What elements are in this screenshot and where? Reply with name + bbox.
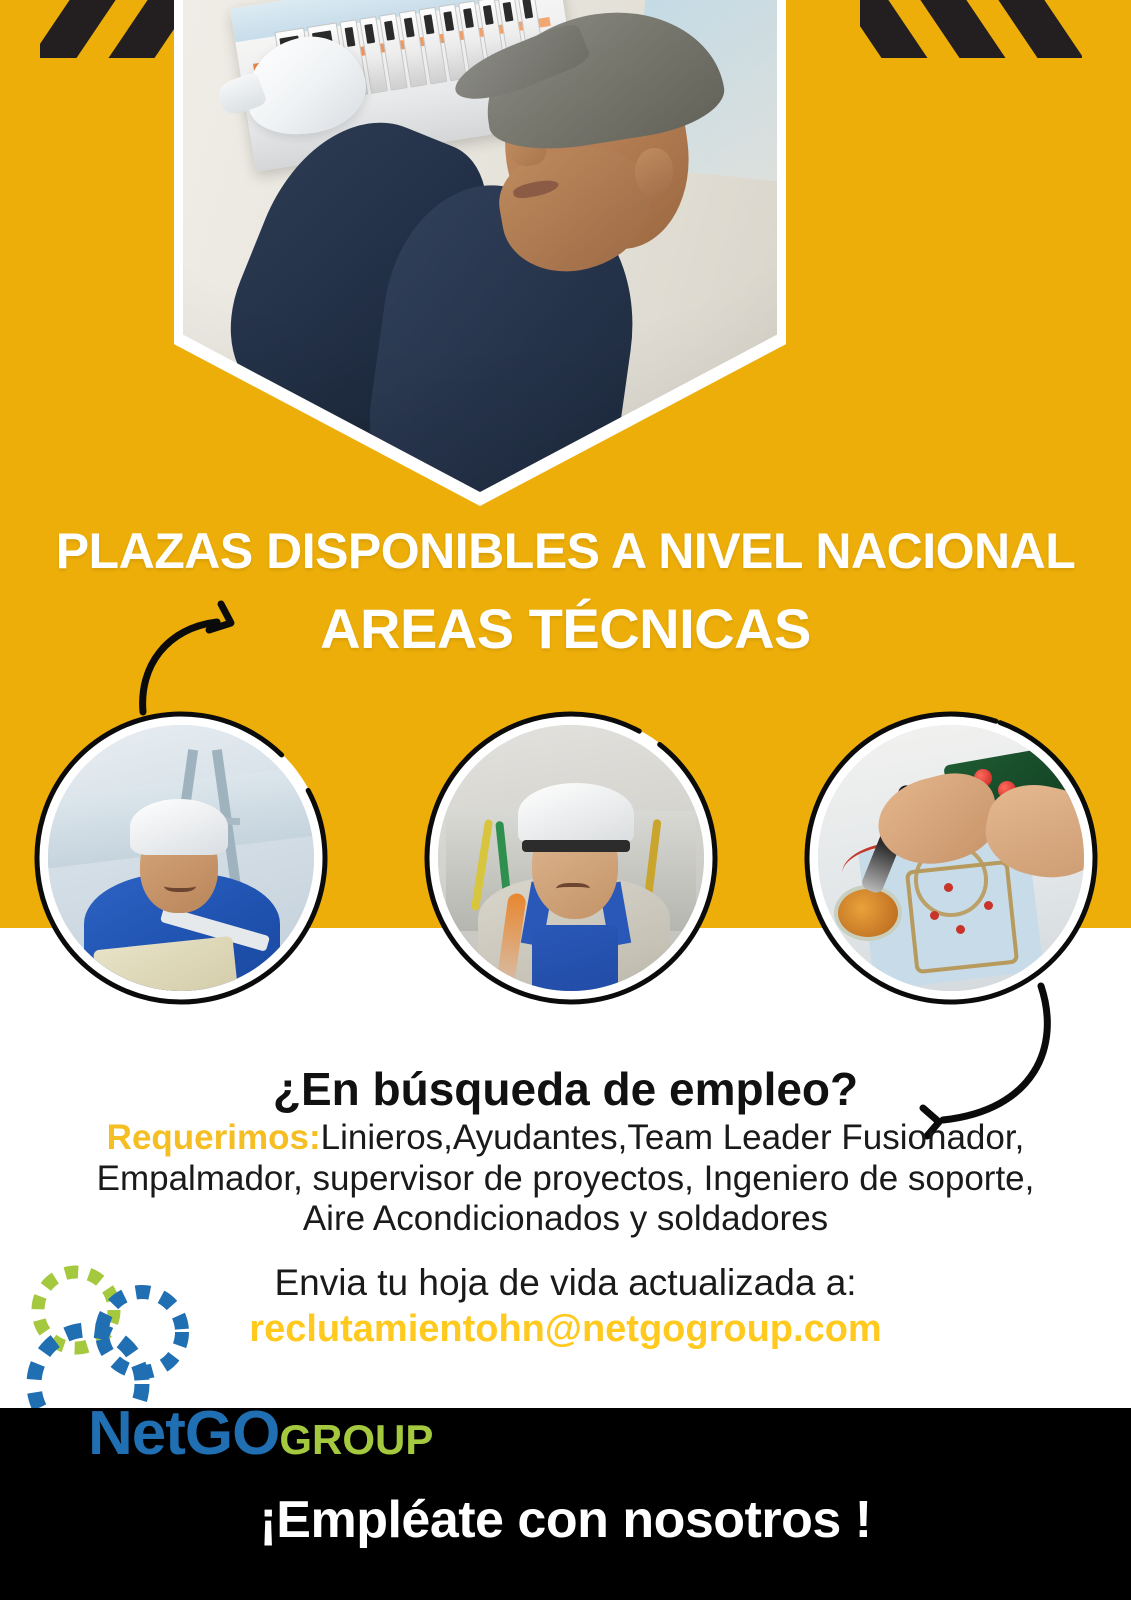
- circle-photo-electrical-worker: [438, 725, 704, 991]
- requirements-line-3: Aire Acondicionados y soldadores: [303, 1199, 828, 1238]
- job-ad-poster: PLAZAS DISPONIBLES A NIVEL NACIONAL AREA…: [0, 0, 1131, 1600]
- requirements-label: Requerimos:: [107, 1118, 321, 1157]
- netgo-wordmark: NetGOGROUP: [88, 1398, 433, 1469]
- headline-primary: PLAZAS DISPONIBLES A NIVEL NACIONAL: [0, 522, 1131, 580]
- hazard-stripes-icon: [860, 0, 1082, 58]
- question-heading: ¿En búsqueda de empleo?: [0, 1062, 1131, 1116]
- logo-name-secondary: GROUP: [279, 1416, 433, 1463]
- circle-photo-field-technician: [48, 725, 314, 991]
- circle-photo-soldering: [818, 725, 1084, 991]
- requirements-block: Requerimos:Linieros,Ayudantes,Team Leade…: [0, 1118, 1131, 1240]
- logo-name-primary: NetGO: [88, 1399, 279, 1468]
- requirements-line-2: Empalmador, supervisor de proyectos, Ing…: [97, 1159, 1035, 1198]
- requirements-line-1: Linieros,Ayudantes,Team Leader Fusionado…: [321, 1118, 1025, 1157]
- footer-tagline: ¡Empléate con nosotros !: [0, 1490, 1131, 1550]
